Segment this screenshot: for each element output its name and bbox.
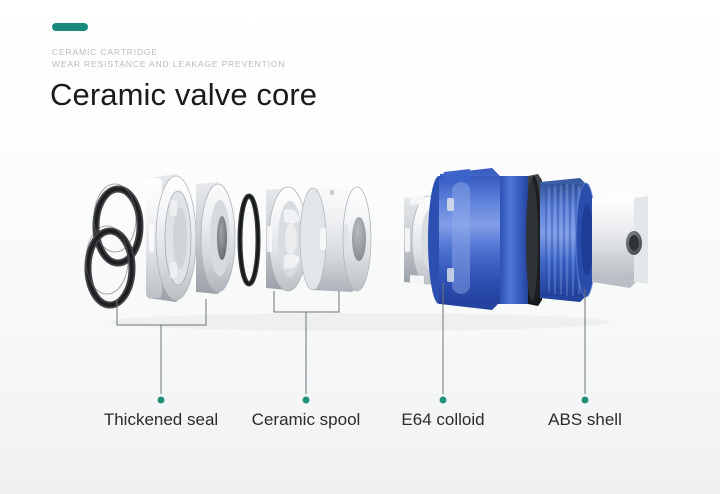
abs-shell-body bbox=[428, 168, 542, 310]
callout-dot-ceramic-spool bbox=[303, 397, 310, 404]
callout-dot-e64-colloid bbox=[440, 397, 447, 404]
product-illustration bbox=[0, 140, 720, 340]
ceramic-spool-body bbox=[300, 186, 371, 292]
callout-label-thickened-seal: Thickened seal bbox=[104, 409, 218, 431]
page-title: Ceramic valve core bbox=[50, 76, 317, 114]
seal-housing-rear bbox=[196, 182, 235, 294]
callout-dot-abs-shell bbox=[582, 397, 589, 404]
accent-bar bbox=[52, 23, 88, 31]
abs-shell-splines bbox=[540, 178, 596, 302]
callout-dot-thickened-seal bbox=[158, 397, 165, 404]
o-ring-small bbox=[240, 196, 258, 284]
callout-label-abs-shell: ABS shell bbox=[548, 409, 622, 431]
eyebrow-text: CERAMIC CARTRIDGE WEAR RESISTANCE AND LE… bbox=[52, 46, 285, 70]
seal-housing bbox=[146, 174, 196, 302]
callout-label-e64-colloid: E64 colloid bbox=[401, 409, 484, 431]
o-ring-pair bbox=[86, 184, 140, 305]
eyebrow-line-2: WEAR RESISTANCE AND LEAKAGE PREVENTION bbox=[52, 58, 285, 70]
callout-label-ceramic-spool: Ceramic spool bbox=[252, 409, 361, 431]
eyebrow-line-1: CERAMIC CARTRIDGE bbox=[52, 46, 285, 58]
valve-stem bbox=[592, 192, 648, 288]
product-feature-page: CERAMIC CARTRIDGE WEAR RESISTANCE AND LE… bbox=[0, 0, 720, 494]
